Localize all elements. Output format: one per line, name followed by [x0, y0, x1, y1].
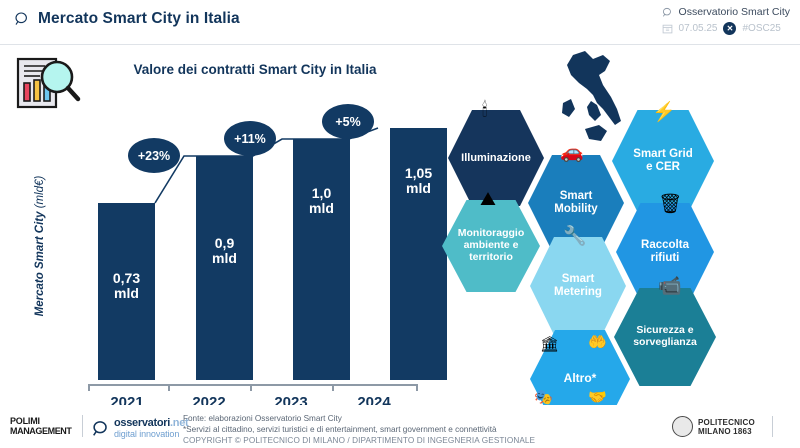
cctv-camera-icon: 📹: [658, 277, 682, 296]
speech-bubble-icon: [92, 420, 109, 437]
speech-bubble-icon: [662, 7, 673, 18]
calendar-icon: [662, 23, 673, 34]
y-axis-unit: (mld€): [34, 176, 46, 209]
helping-hands-icon: 🤲: [588, 335, 607, 350]
footnote-copyright: COPYRIGHT © POLITECNICO DI MILANO / DIPA…: [183, 436, 535, 445]
hashtag-label: #OSC25: [742, 23, 780, 34]
chart-panel: Valore dei contratti Smart City in Itali…: [0, 45, 430, 405]
speech-bubble-icon: [14, 11, 30, 27]
x-axis-tick: [416, 384, 418, 391]
osservatori-tagline: digital innovation: [114, 429, 188, 439]
hex-label-illuminazione: Illuminazione: [461, 152, 531, 164]
politecnico-seal: POLITECNICO MILANO 1863: [672, 416, 755, 437]
x-axis-tick: [250, 384, 252, 391]
hex-label-altro: Altro*: [564, 372, 597, 385]
chart-plot-area: 0,73mld 0,9mld 1,0mld 1,05mld +23% +11% …: [88, 95, 418, 380]
polimi-logo-line2: MANAGEMENT: [10, 426, 72, 436]
x-axis-tick: [168, 384, 170, 391]
x-axis-tick: [88, 384, 90, 391]
polimi-logo: POLIMI MANAGEMENT: [10, 416, 72, 436]
footnote-asterisk: *Servizi al cittadino, servizi turistici…: [183, 425, 497, 434]
street-lamp-icon: 🕯: [482, 101, 487, 120]
bar-value-2022: 0,9mld: [196, 236, 253, 266]
trash-bin-icon: 🗑: [658, 195, 682, 214]
hex-label-monitoraggio-l3: territorio: [469, 252, 513, 264]
growth-badge-2023: +11%: [224, 121, 276, 156]
growth-badge-2022: +23%: [128, 138, 180, 173]
hex-label-smart-grid-l2: e CER: [646, 161, 680, 174]
hex-label-raccolta-l1: Raccolta: [641, 239, 689, 252]
header-meta-row: 07.05.25 ✕ #OSC25: [662, 22, 790, 35]
tourism-icon: 🎭: [534, 390, 553, 405]
hex-sicurezza-sorveglianza[interactable]: Sicurezza e sorveglianza: [614, 288, 716, 386]
x-axis-line: [88, 384, 418, 386]
osservatori-word: osservatori: [114, 417, 170, 429]
growth-badge-2024: +5%: [322, 104, 374, 139]
seal-divider: [772, 416, 773, 437]
bar-2021[interactable]: 0,73mld: [98, 203, 155, 380]
polimi-logo-line1: POLIMI: [10, 416, 72, 426]
logo-divider: [82, 415, 83, 437]
politecnico-seal-icon: [672, 416, 693, 437]
water-meter-icon: 🔧: [563, 227, 587, 246]
event-date: 07.05.25: [679, 23, 718, 34]
footnote-source: Fonte: elaborazioni Osservatorio Smart C…: [183, 414, 342, 423]
x-twitter-icon[interactable]: ✕: [723, 22, 736, 35]
politecnico-seal-line1: POLITECNICO: [698, 418, 755, 427]
header-left: Mercato Smart City in Italia: [14, 10, 240, 28]
header-brand-row: Osservatorio Smart City: [662, 6, 790, 18]
bar-value-2021: 0,73mld: [98, 271, 155, 301]
hex-label-smart-metering-l1: Smart: [562, 273, 595, 286]
header-right: Osservatorio Smart City 07.05.25 ✕ #OSC2…: [662, 6, 790, 35]
bar-2023[interactable]: 1,0mld: [293, 139, 350, 380]
bar-2022[interactable]: 0,9mld: [196, 156, 253, 380]
report-magnifier-icon: [12, 55, 84, 127]
hex-label-raccolta-l2: rifiuti: [651, 252, 680, 265]
hex-monitoraggio[interactable]: Monitoraggio ambiente e territorio: [442, 200, 540, 292]
osservatori-logo: osservatori.net digital innovation: [92, 417, 188, 439]
observatory-name: Osservatorio Smart City: [679, 6, 790, 18]
hex-label-sicurezza-l2: sorveglianza: [633, 337, 697, 349]
hex-illuminazione[interactable]: Illuminazione: [448, 110, 544, 206]
y-axis-label: Mercato Smart City (mld€): [34, 136, 46, 356]
hex-label-smart-mobility-l1: Smart: [560, 190, 593, 203]
hex-label-smart-mobility-l2: Mobility: [554, 203, 597, 216]
bar-value-2023: 1,0mld: [293, 186, 350, 216]
x-axis-tick: [332, 384, 334, 391]
connected-car-icon: 🚗: [560, 143, 584, 162]
smart-city-hex-diagram: Illuminazione 🕯 Smart Mobility 🚗 Smart G…: [430, 45, 800, 405]
chart-title: Valore dei contratti Smart City in Itali…: [95, 62, 415, 77]
hex-smart-metering[interactable]: Smart Metering: [530, 237, 626, 335]
politecnico-seal-line2: MILANO 1863: [698, 427, 755, 436]
government-building-icon: 🏛: [540, 337, 559, 352]
hex-label-smart-grid-l1: Smart Grid: [633, 148, 692, 161]
page-title: Mercato Smart City in Italia: [38, 10, 240, 28]
mountain-icon: ⛰: [480, 190, 496, 209]
page-footer: POLIMI MANAGEMENT osservatori.net digita…: [0, 405, 800, 448]
osservatori-name: osservatori.net: [114, 417, 188, 429]
handshake-icon: 🤝: [588, 390, 607, 405]
power-pylon-icon: ⚡: [652, 103, 676, 122]
page-header: Mercato Smart City in Italia Osservatori…: [0, 0, 800, 45]
y-axis-label-text: Mercato Smart City: [34, 212, 46, 317]
hex-label-smart-metering-l2: Metering: [554, 286, 602, 299]
